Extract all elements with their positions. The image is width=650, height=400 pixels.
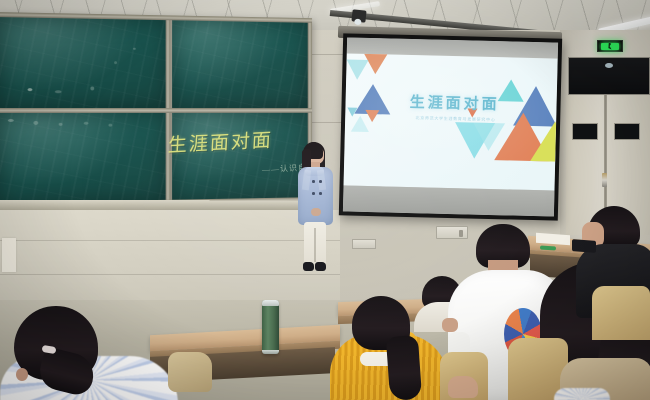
- student-ponytail: [386, 335, 422, 400]
- triangle-decor-cyan: [351, 116, 369, 132]
- presenter-shoe: [303, 262, 314, 271]
- chalkboard-panel: [0, 16, 167, 108]
- presenter: [292, 140, 338, 282]
- door-window: [572, 123, 598, 140]
- presenter-hands: [311, 208, 321, 216]
- classroom-scene: 生涯面对面 ——认识自己: [0, 0, 650, 400]
- student-hand: [448, 376, 478, 398]
- desk-phone[interactable]: [572, 239, 596, 253]
- chalkboard-title: 生涯面对面: [167, 125, 273, 158]
- door-window: [614, 123, 640, 140]
- thermos-base: [262, 350, 279, 354]
- slide-subtitle: 北京师范大学生涯教育与发展研究中心: [415, 115, 495, 123]
- fur-trim: [554, 388, 610, 400]
- student-ear: [16, 368, 28, 381]
- thermos-cap: [262, 300, 279, 306]
- desk-book-bag: [168, 352, 212, 392]
- presenter-pants: [304, 222, 326, 264]
- green-thermos[interactable]: [262, 300, 279, 354]
- chair-back: [592, 286, 650, 340]
- student-tan-coat: [560, 352, 650, 400]
- screen-bottom-band: [343, 185, 555, 216]
- presentation-slide: 生涯面对面 北京师范大学生涯教育与发展研究中心: [344, 53, 558, 190]
- door-handle[interactable]: [602, 173, 607, 187]
- transom-lamp-icon: [605, 63, 613, 68]
- chalkboard: [0, 12, 312, 208]
- chalkboard-panel: [0, 113, 167, 204]
- student-fur-collar: [0, 300, 180, 400]
- presenter-shoe: [315, 262, 326, 271]
- transom-window: [568, 57, 650, 95]
- projection-screen: 生涯面对面 北京师范大学生涯教育与发展研究中心: [339, 33, 562, 220]
- chalkboard-panel: [172, 19, 308, 108]
- triangle-decor-cyan: [472, 123, 505, 152]
- triangle-decor-cyan: [346, 59, 368, 80]
- slide-title: 生涯面对面: [409, 91, 500, 114]
- exit-sign: [597, 40, 623, 52]
- running-man-icon: [601, 43, 619, 50]
- wall-switch-panel[interactable]: [352, 239, 376, 249]
- student-hand: [442, 318, 458, 332]
- wall-paper-note: [2, 238, 16, 272]
- projector-icon: [351, 9, 366, 22]
- triangle-decor-yellow: [530, 121, 558, 162]
